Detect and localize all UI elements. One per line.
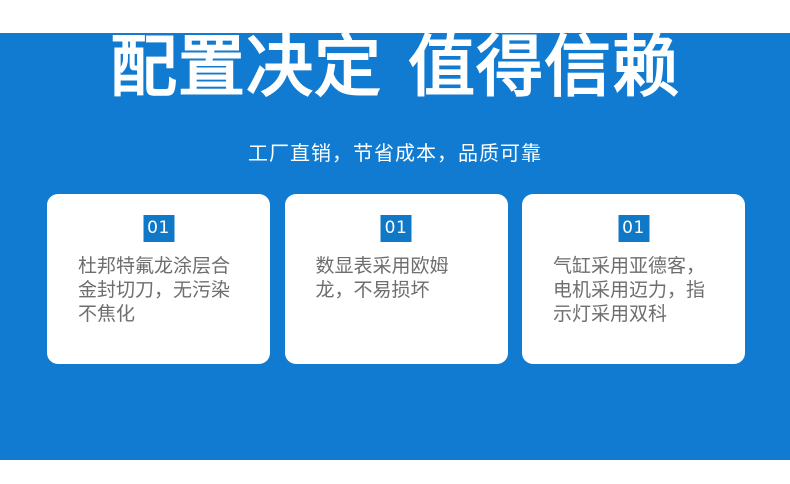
promo-banner: 配置决定值得信赖 工厂直销，节省成本，品质可靠 01 杜邦特氟龙涂层合金封切刀，… <box>0 0 790 484</box>
card-description: 数显表采用欧姆龙，不易损坏 <box>285 254 508 302</box>
headline-part-1: 配置决定 <box>110 28 382 106</box>
feature-card: 01 气缸采用亚德客，电机采用迈力，指示灯采用双科 <box>522 194 745 364</box>
card-description: 杜邦特氟龙涂层合金封切刀，无污染不焦化 <box>47 254 270 326</box>
banner-headline: 配置决定值得信赖 <box>0 27 790 107</box>
feature-card: 01 杜邦特氟龙涂层合金封切刀，无污染不焦化 <box>47 194 270 364</box>
card-badge-number: 01 <box>618 215 649 242</box>
feature-card-list: 01 杜邦特氟龙涂层合金封切刀，无污染不焦化 01 数显表采用欧姆龙，不易损坏 … <box>47 194 745 364</box>
headline-part-2: 值得信赖 <box>408 28 680 106</box>
card-description: 气缸采用亚德客，电机采用迈力，指示灯采用双科 <box>522 254 745 326</box>
card-badge-number: 01 <box>143 215 174 242</box>
feature-card: 01 数显表采用欧姆龙，不易损坏 <box>285 194 508 364</box>
card-badge-number: 01 <box>381 215 412 242</box>
banner-subtitle: 工厂直销，节省成本，品质可靠 <box>0 139 790 167</box>
